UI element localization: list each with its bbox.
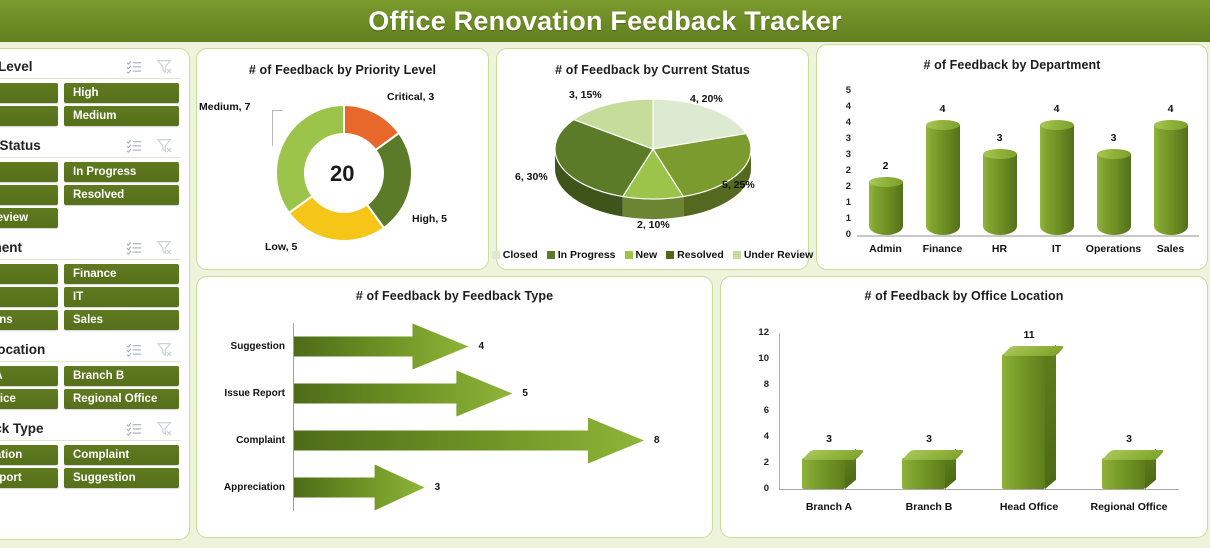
- value-label-suggestion: 4: [479, 341, 485, 352]
- multi-select-icon[interactable]: [126, 59, 143, 74]
- pie-label-in-progress: 5, 25%: [722, 179, 755, 191]
- dashboard-header: Office Renovation Feedback Tracker: [0, 0, 1210, 42]
- multi-select-icon[interactable]: [126, 138, 143, 153]
- column-operations[interactable]: [1097, 149, 1131, 235]
- pie-label-under-review: 3, 15%: [569, 89, 602, 101]
- legend-item-in-progress[interactable]: In Progress: [547, 249, 616, 261]
- y-tick-4: 4: [753, 431, 769, 442]
- pie3d-svg: [497, 75, 810, 240]
- chart-title-priority-level: # of Feedback by Priority Level: [197, 63, 488, 77]
- legend-swatch-new: [625, 251, 633, 259]
- pie-slice-side-new: [623, 197, 684, 219]
- column-cap: [1040, 120, 1074, 130]
- y-tick-3: 3: [835, 133, 851, 144]
- value-label-regional-office: 3: [1079, 433, 1179, 445]
- legend-swatch-in-progress: [547, 251, 555, 259]
- y-tick-7: 1: [835, 197, 851, 208]
- page-title: Office Renovation Feedback Tracker: [368, 6, 841, 37]
- slicer-item-filler: [64, 208, 179, 228]
- y-tick-3: 6: [753, 405, 769, 416]
- chart-card-priority-level: # of Feedback by Priority Level 20 Criti…: [196, 48, 489, 270]
- pie-legend: Closed In Progress New Resolved Under Re…: [497, 249, 808, 261]
- value-label-operations: 3: [1085, 132, 1142, 144]
- slicer-items-feedback-type: AppreciationComplaintIssue ReportSuggest…: [0, 441, 181, 494]
- category-label-issue-report: Issue Report: [197, 388, 285, 399]
- legend-label-under-review: Under Review: [744, 249, 813, 261]
- slicer-item-head-office[interactable]: Head Office: [0, 389, 58, 409]
- slicer-icons: [126, 421, 177, 436]
- slicer-items-current-status: ClosedIn ProgressNewResolvedUnder Review: [0, 158, 181, 234]
- arrow-bar-suggestion[interactable]: [293, 324, 469, 370]
- value-label-it: 4: [1028, 103, 1085, 115]
- dashboard-root: Office Renovation Feedback Tracker Prior…: [0, 0, 1210, 548]
- slicer-item-operations[interactable]: Operations: [0, 310, 58, 330]
- donut-chart-priority-level: 20 Critical, 3 High, 5 Low, 5 Medium, 7: [197, 77, 488, 267]
- category-label-sales: Sales: [1142, 243, 1199, 255]
- slicer-items-office-location: Branch ABranch BHead OfficeRegional Offi…: [0, 362, 181, 415]
- slicer-title-priority-level: Priority Level: [0, 59, 126, 74]
- column-chart-department: 54433221102Admin4Finance3HR4IT3Operation…: [817, 75, 1209, 267]
- column-top: [1002, 346, 1065, 356]
- donut-leader-line: [272, 110, 283, 146]
- slicer-header-priority-level: Priority Level: [0, 55, 181, 79]
- value-label-appreciation: 3: [435, 482, 441, 493]
- arrow-bar-appreciation[interactable]: [293, 465, 425, 511]
- slicer-item-new[interactable]: New: [0, 185, 58, 205]
- column-front: [1102, 458, 1145, 489]
- slicer-item-regional-office[interactable]: Regional Office: [64, 389, 179, 409]
- y-tick-5: 2: [753, 457, 769, 468]
- slicer-item-issue-report[interactable]: Issue Report: [0, 468, 58, 488]
- column-front: [1002, 354, 1045, 489]
- arrow-bars-svg: [197, 305, 714, 533]
- slicer-icons: [126, 138, 177, 153]
- y-axis-line: [779, 333, 780, 489]
- column-cap: [1154, 120, 1188, 130]
- category-label-branch-b: Branch B: [879, 501, 979, 513]
- slicer-title-department: Department: [0, 240, 126, 255]
- legend-item-closed[interactable]: Closed: [492, 249, 538, 261]
- category-label-branch-a: Branch A: [779, 501, 879, 513]
- column-body: [983, 154, 1017, 235]
- chart-card-department: # of Feedback by Department 54433221102A…: [816, 44, 1208, 270]
- multi-select-icon[interactable]: [126, 240, 143, 255]
- slicer-item-branch-a[interactable]: Branch A: [0, 366, 58, 386]
- value-label-finance: 4: [914, 103, 971, 115]
- y-tick-4: 3: [835, 149, 851, 160]
- slicer-item-sales[interactable]: Sales: [64, 310, 179, 330]
- legend-item-under-review[interactable]: Under Review: [733, 249, 813, 261]
- column-sales[interactable]: [1154, 120, 1188, 235]
- slicer-icons: [126, 59, 177, 74]
- slicer-item-medium[interactable]: Medium: [64, 106, 179, 126]
- value-label-branch-b: 3: [879, 433, 979, 445]
- legend-label-in-progress: In Progress: [558, 249, 616, 261]
- y-tick-6: 0: [753, 483, 769, 494]
- legend-swatch-resolved: [666, 251, 674, 259]
- slicer-item-in-progress[interactable]: In Progress: [64, 162, 179, 182]
- slicer-item-finance[interactable]: Finance: [64, 264, 179, 284]
- slicer-items-department: AdminFinanceHRITOperationsSales: [0, 260, 181, 336]
- y-tick-2: 4: [835, 117, 851, 128]
- slicer-priority-level: Priority LevelCriticalHighLowMedium: [0, 55, 181, 132]
- value-label-complaint: 8: [654, 435, 660, 446]
- column-cap: [926, 120, 960, 130]
- column-cap: [1097, 149, 1131, 159]
- arrow-bar-complaint[interactable]: [293, 418, 644, 464]
- y-tick-2: 8: [753, 379, 769, 390]
- column-regional-office[interactable]: [1102, 450, 1156, 489]
- category-label-it: IT: [1028, 243, 1085, 255]
- chart-card-office-location: # of Feedback by Office Location 1210864…: [720, 276, 1208, 538]
- slicer-header-current-status: Current Status: [0, 134, 181, 158]
- arrow-chart-feedback-type: Suggestion4Issue Report5Complaint8Apprec…: [197, 305, 714, 533]
- slicer-item-low[interactable]: Low: [0, 106, 58, 126]
- column-cap: [983, 149, 1017, 159]
- column-body: [869, 182, 903, 235]
- slicer-items-priority-level: CriticalHighLowMedium: [0, 79, 181, 132]
- column-front: [902, 458, 945, 489]
- slicer-item-appreciation[interactable]: Appreciation: [0, 445, 58, 465]
- value-label-hr: 3: [971, 132, 1028, 144]
- column-body: [1040, 125, 1074, 235]
- category-label-suggestion: Suggestion: [197, 341, 285, 352]
- clear-filter-icon[interactable]: [156, 342, 173, 357]
- y-tick-1: 10: [753, 353, 769, 364]
- donut-label-critical: Critical, 3: [387, 91, 434, 103]
- slicer-icons: [126, 240, 177, 255]
- slicer-item-it[interactable]: IT: [64, 287, 179, 307]
- slicer-item-closed[interactable]: Closed: [0, 162, 58, 182]
- slicer-item-under-review[interactable]: Under Review: [0, 208, 58, 228]
- clear-filter-icon[interactable]: [156, 421, 173, 436]
- column-top: [1102, 450, 1165, 460]
- pie-label-closed: 4, 20%: [690, 93, 723, 105]
- value-label-head-office: 11: [979, 329, 1079, 341]
- value-label-issue-report: 5: [522, 388, 528, 399]
- chart-title-office-location: # of Feedback by Office Location: [721, 289, 1207, 303]
- chart-card-feedback-type: # of Feedback by Feedback Type Suggestio…: [196, 276, 713, 538]
- legend-item-new[interactable]: New: [625, 249, 658, 261]
- y-tick-9: 0: [835, 229, 851, 240]
- column-body: [926, 125, 960, 235]
- legend-label-closed: Closed: [503, 249, 538, 261]
- donut-label-medium: Medium, 7: [199, 101, 250, 113]
- y-tick-0: 5: [835, 85, 851, 96]
- legend-swatch-closed: [492, 251, 500, 259]
- slicer-feedback-type: Feedback TypeAppreciationComplaintIssue …: [0, 417, 181, 494]
- value-label-branch-a: 3: [779, 433, 879, 445]
- pie3d-chart-current-status: 3, 15% 4, 20% 5, 25% 2, 10% 6, 30%: [497, 75, 810, 240]
- column-top: [902, 450, 965, 460]
- y-tick-8: 1: [835, 213, 851, 224]
- chart-card-current-status: # of Feedback by Current Status 3, 15% 4…: [496, 48, 809, 270]
- column-it[interactable]: [1040, 120, 1074, 235]
- column-body: [1154, 125, 1188, 235]
- slicer-item-branch-b[interactable]: Branch B: [64, 366, 179, 386]
- y-tick-5: 2: [835, 165, 851, 176]
- donut-label-low: Low, 5: [265, 241, 297, 253]
- category-label-head-office: Head Office: [979, 501, 1079, 513]
- y-tick-1: 4: [835, 101, 851, 112]
- slicer-item-suggestion[interactable]: Suggestion: [64, 468, 179, 488]
- category-label-regional-office: Regional Office: [1079, 501, 1179, 513]
- slicer-header-department: Department: [0, 236, 181, 260]
- column-hr[interactable]: [983, 149, 1017, 235]
- category-label-hr: HR: [971, 243, 1028, 255]
- slicer-header-office-location: Office Location: [0, 338, 181, 362]
- column-top: [802, 450, 865, 460]
- donut-total-label: 20: [330, 161, 354, 187]
- arrow-bar-issue-report[interactable]: [293, 371, 512, 417]
- column-body: [1097, 154, 1131, 235]
- slicer-item-admin[interactable]: Admin: [0, 264, 58, 284]
- slicer-title-office-location: Office Location: [0, 342, 126, 357]
- value-label-sales: 4: [1142, 103, 1199, 115]
- column-finance[interactable]: [926, 120, 960, 235]
- legend-label-new: New: [636, 249, 658, 261]
- slicer-header-feedback-type: Feedback Type: [0, 417, 181, 441]
- y-axis-line: [293, 323, 294, 511]
- slicer-title-feedback-type: Feedback Type: [0, 421, 126, 436]
- y-tick-0: 12: [753, 327, 769, 338]
- slicer-item-complaint[interactable]: Complaint: [64, 445, 179, 465]
- pie-label-resolved: 6, 30%: [515, 171, 548, 183]
- legend-item-resolved[interactable]: Resolved: [666, 249, 724, 261]
- slicer-title-current-status: Current Status: [0, 138, 126, 153]
- column-branch-a[interactable]: [802, 450, 856, 489]
- slicer-panel: Priority LevelCriticalHighLowMediumCurre…: [0, 48, 190, 540]
- x-axis-line: [779, 489, 1179, 490]
- column-head-office[interactable]: [1002, 346, 1056, 489]
- clear-filter-icon[interactable]: [156, 240, 173, 255]
- slicer-department: DepartmentAdminFinanceHRITOperationsSale…: [0, 236, 181, 336]
- column-side: [1045, 345, 1056, 489]
- donut-label-high: High, 5: [412, 213, 447, 225]
- multi-select-icon[interactable]: [126, 421, 143, 436]
- slicer-current-status: Current StatusClosedIn ProgressNewResolv…: [0, 134, 181, 234]
- column-branch-b[interactable]: [902, 450, 956, 489]
- slicer-item-high[interactable]: High: [64, 83, 179, 103]
- category-label-appreciation: Appreciation: [197, 482, 285, 493]
- category-label-admin: Admin: [857, 243, 914, 255]
- slicer-office-location: Office LocationBranch ABranch BHead Offi…: [0, 338, 181, 415]
- legend-label-resolved: Resolved: [677, 249, 724, 261]
- x-axis-line: [857, 235, 1199, 237]
- clear-filter-icon[interactable]: [156, 138, 173, 153]
- column-admin[interactable]: [869, 177, 903, 235]
- slicer-item-hr[interactable]: HR: [0, 287, 58, 307]
- legend-swatch-under-review: [733, 251, 741, 259]
- value-label-admin: 2: [857, 160, 914, 172]
- slicer-icons: [126, 342, 177, 357]
- pie-label-new: 2, 10%: [637, 219, 670, 231]
- category-label-finance: Finance: [914, 243, 971, 255]
- y-tick-6: 2: [835, 181, 851, 192]
- column-chart-office-location: 1210864203Branch A3Branch B11Head Office…: [721, 309, 1209, 533]
- column-front: [802, 458, 845, 489]
- slicer-item-resolved[interactable]: Resolved: [64, 185, 179, 205]
- chart-title-feedback-type: # of Feedback by Feedback Type: [197, 289, 712, 303]
- chart-title-department: # of Feedback by Department: [817, 58, 1207, 72]
- category-label-complaint: Complaint: [197, 435, 285, 446]
- slicer-item-critical[interactable]: Critical: [0, 83, 58, 103]
- clear-filter-icon[interactable]: [156, 59, 173, 74]
- category-label-operations: Operations: [1085, 243, 1142, 255]
- multi-select-icon[interactable]: [126, 342, 143, 357]
